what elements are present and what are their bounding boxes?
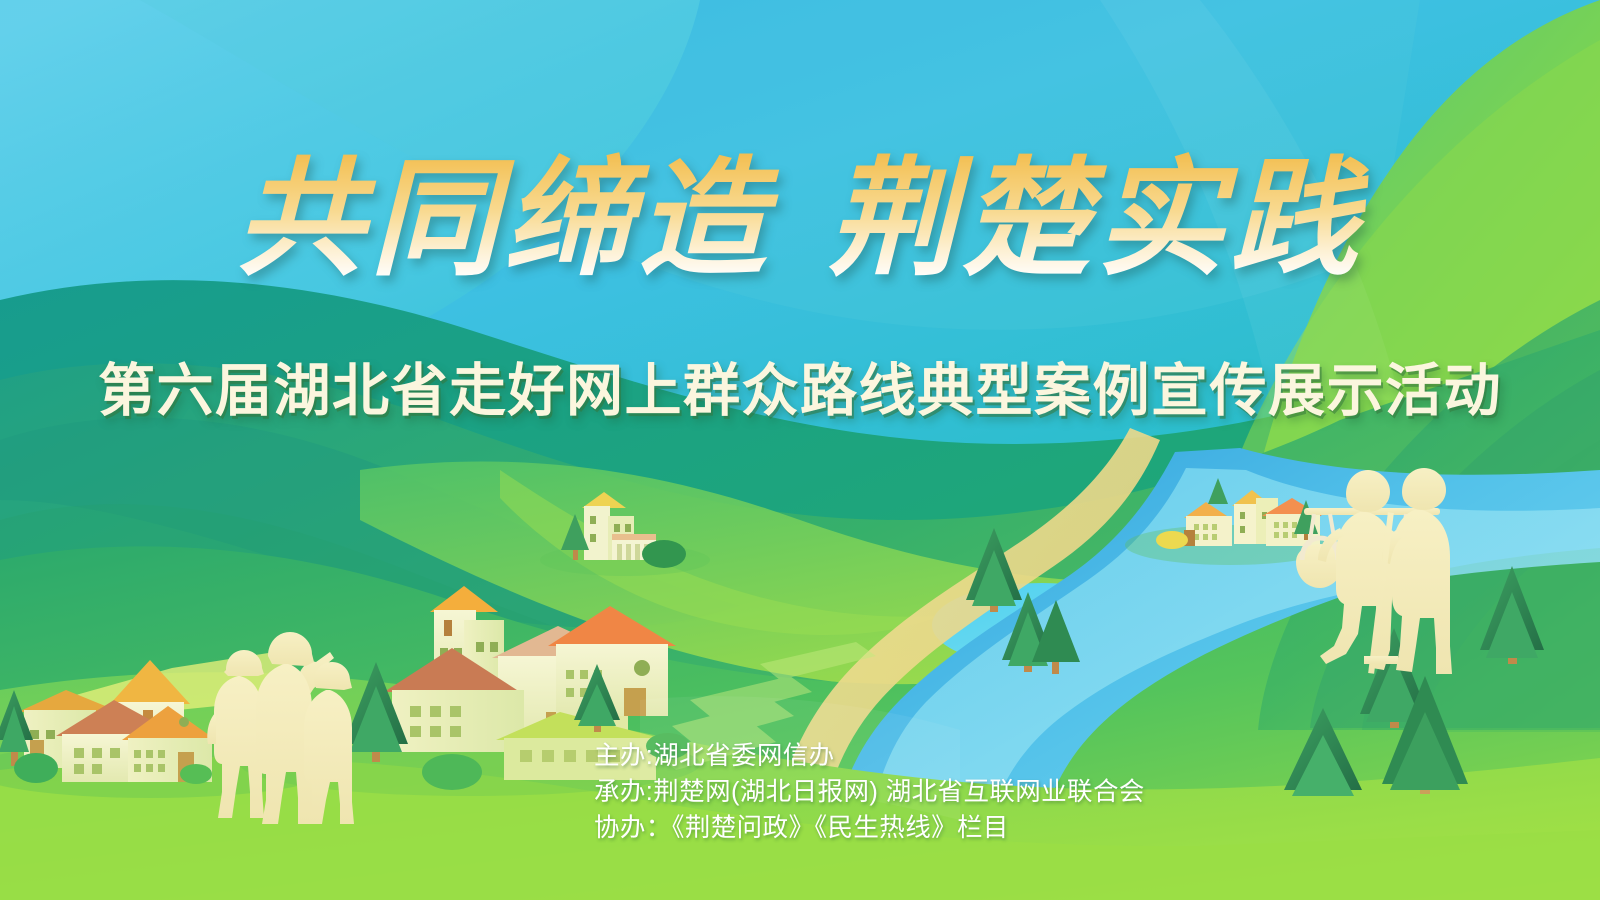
credit-line-organizer: 主办:湖北省委网信办 — [594, 738, 1145, 774]
poster-canvas: 共同缔造荆楚实践 第六届湖北省走好网上群众路线典型案例宣传展示活动 主办:湖北省… — [0, 0, 1600, 900]
credits-block: 主办:湖北省委网信办 承办:荆楚网(湖北日报网) 湖北省互联网业联合会 协办：《… — [594, 738, 1145, 846]
credit-line-coorganizer: 协办：《荆楚问政》《民生热线》栏目 — [594, 810, 1145, 846]
credit-line-host: 承办:荆楚网(湖北日报网) 湖北省互联网业联合会 — [594, 774, 1145, 810]
